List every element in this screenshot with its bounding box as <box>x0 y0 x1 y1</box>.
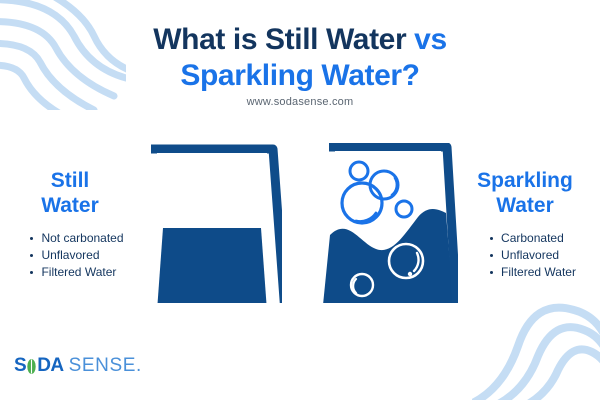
sparkling-water-fill <box>322 209 454 303</box>
still-water-heading-line2: Water <box>0 193 140 218</box>
list-item: Not carbonated <box>28 230 123 247</box>
sparkling-water-heading-line2: Water <box>450 193 600 218</box>
list-item: Filtered Water <box>488 264 576 281</box>
still-water-glass-icon <box>142 143 282 303</box>
title-line-1: What is Still Water vs <box>0 22 600 58</box>
bubble-above-water-3 <box>342 183 382 223</box>
still-water-fill <box>157 228 267 303</box>
still-water-heading: Still Water <box>0 168 140 218</box>
list-item: Carbonated <box>488 230 576 247</box>
title-line-1-dark: What is Still Water <box>153 23 414 56</box>
page-title: What is Still Water vs Sparkling Water? <box>0 22 600 94</box>
title-line-2: Sparkling Water? <box>0 58 600 94</box>
site-url-text: www.sodasense.com <box>0 96 600 108</box>
bubble-highlight-dot <box>408 272 412 276</box>
bubble-above-water-4 <box>396 201 412 217</box>
panel-sparkling-water: Sparkling Water Carbonated Unflavored Fi… <box>450 168 600 281</box>
list-item: Unflavored <box>488 247 576 264</box>
logo-word-sense: SENSE. <box>69 355 142 377</box>
still-water-heading-line1: Still <box>0 168 140 193</box>
list-item: Filtered Water <box>28 264 123 281</box>
wave-decoration-bottom-right <box>472 280 600 400</box>
logo-word-soda-part2: DA <box>37 355 63 377</box>
leaf-icon <box>26 358 37 375</box>
soda-sense-logo: SDA SENSE. <box>14 353 142 379</box>
sparkling-water-bullet-list: Carbonated Unflavored Filtered Water <box>488 230 576 281</box>
infographic-canvas: What is Still Water vs Sparkling Water? … <box>0 0 600 400</box>
sparkling-water-heading: Sparkling Water <box>450 168 600 218</box>
bubble-above-water-1 <box>350 162 368 180</box>
sparkling-water-heading-line1: Sparkling <box>450 168 600 193</box>
panel-still-water: Still Water Not carbonated Unflavored Fi… <box>0 168 140 281</box>
list-item: Unflavored <box>28 247 123 264</box>
logo-word-soda-part1: S <box>14 355 26 377</box>
still-water-bullet-list: Not carbonated Unflavored Filtered Water <box>28 230 123 281</box>
title-line-1-blue: vs <box>414 23 447 56</box>
sparkling-water-glass-icon <box>318 143 458 303</box>
